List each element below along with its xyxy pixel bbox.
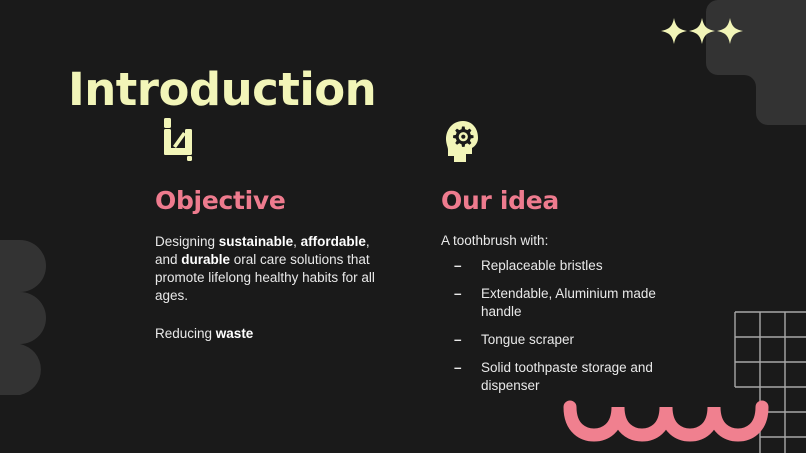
list-item: – Replaceable bristles xyxy=(441,257,656,275)
scallop-shape xyxy=(0,240,70,395)
our-idea-lead-in: A toothbrush with: xyxy=(441,233,656,248)
slide-introduction: Introduction Objective Designing sustain… xyxy=(0,0,806,453)
our-idea-heading: Our idea xyxy=(441,188,656,213)
objective-paragraph-two: Reducing waste xyxy=(155,325,380,343)
bullet-marker: – xyxy=(441,359,481,377)
objective-heading: Objective xyxy=(155,188,380,213)
our-idea-bullet-list: – Replaceable bristles – Extendable, Alu… xyxy=(441,257,656,395)
staircase-shape xyxy=(646,0,806,125)
list-item: – Solid toothpaste storage and dispenser xyxy=(441,359,656,395)
list-item-label: Extendable, Aluminium made handle xyxy=(481,285,656,321)
head-with-gear-icon xyxy=(441,118,656,166)
sparkle-diamonds xyxy=(660,17,744,53)
bullet-marker: – xyxy=(441,331,481,349)
grid-pattern xyxy=(730,305,806,453)
objective-paragraph: Designing sustainable, affordable, and d… xyxy=(155,233,380,305)
list-item: – Tongue scraper xyxy=(441,331,656,349)
list-item-label: Solid toothpaste storage and dispenser xyxy=(481,359,656,395)
crop-tool-icon xyxy=(155,118,380,166)
list-item-label: Replaceable bristles xyxy=(481,257,656,275)
list-item: – Extendable, Aluminium made handle xyxy=(441,285,656,321)
column-our-idea: Our idea A toothbrush with: – Replaceabl… xyxy=(441,118,656,405)
list-item-label: Tongue scraper xyxy=(481,331,656,349)
column-objective: Objective Designing sustainable, afforda… xyxy=(155,118,380,343)
page-title: Introduction xyxy=(68,66,376,113)
bullet-marker: – xyxy=(441,285,481,303)
bullet-marker: – xyxy=(441,257,481,275)
